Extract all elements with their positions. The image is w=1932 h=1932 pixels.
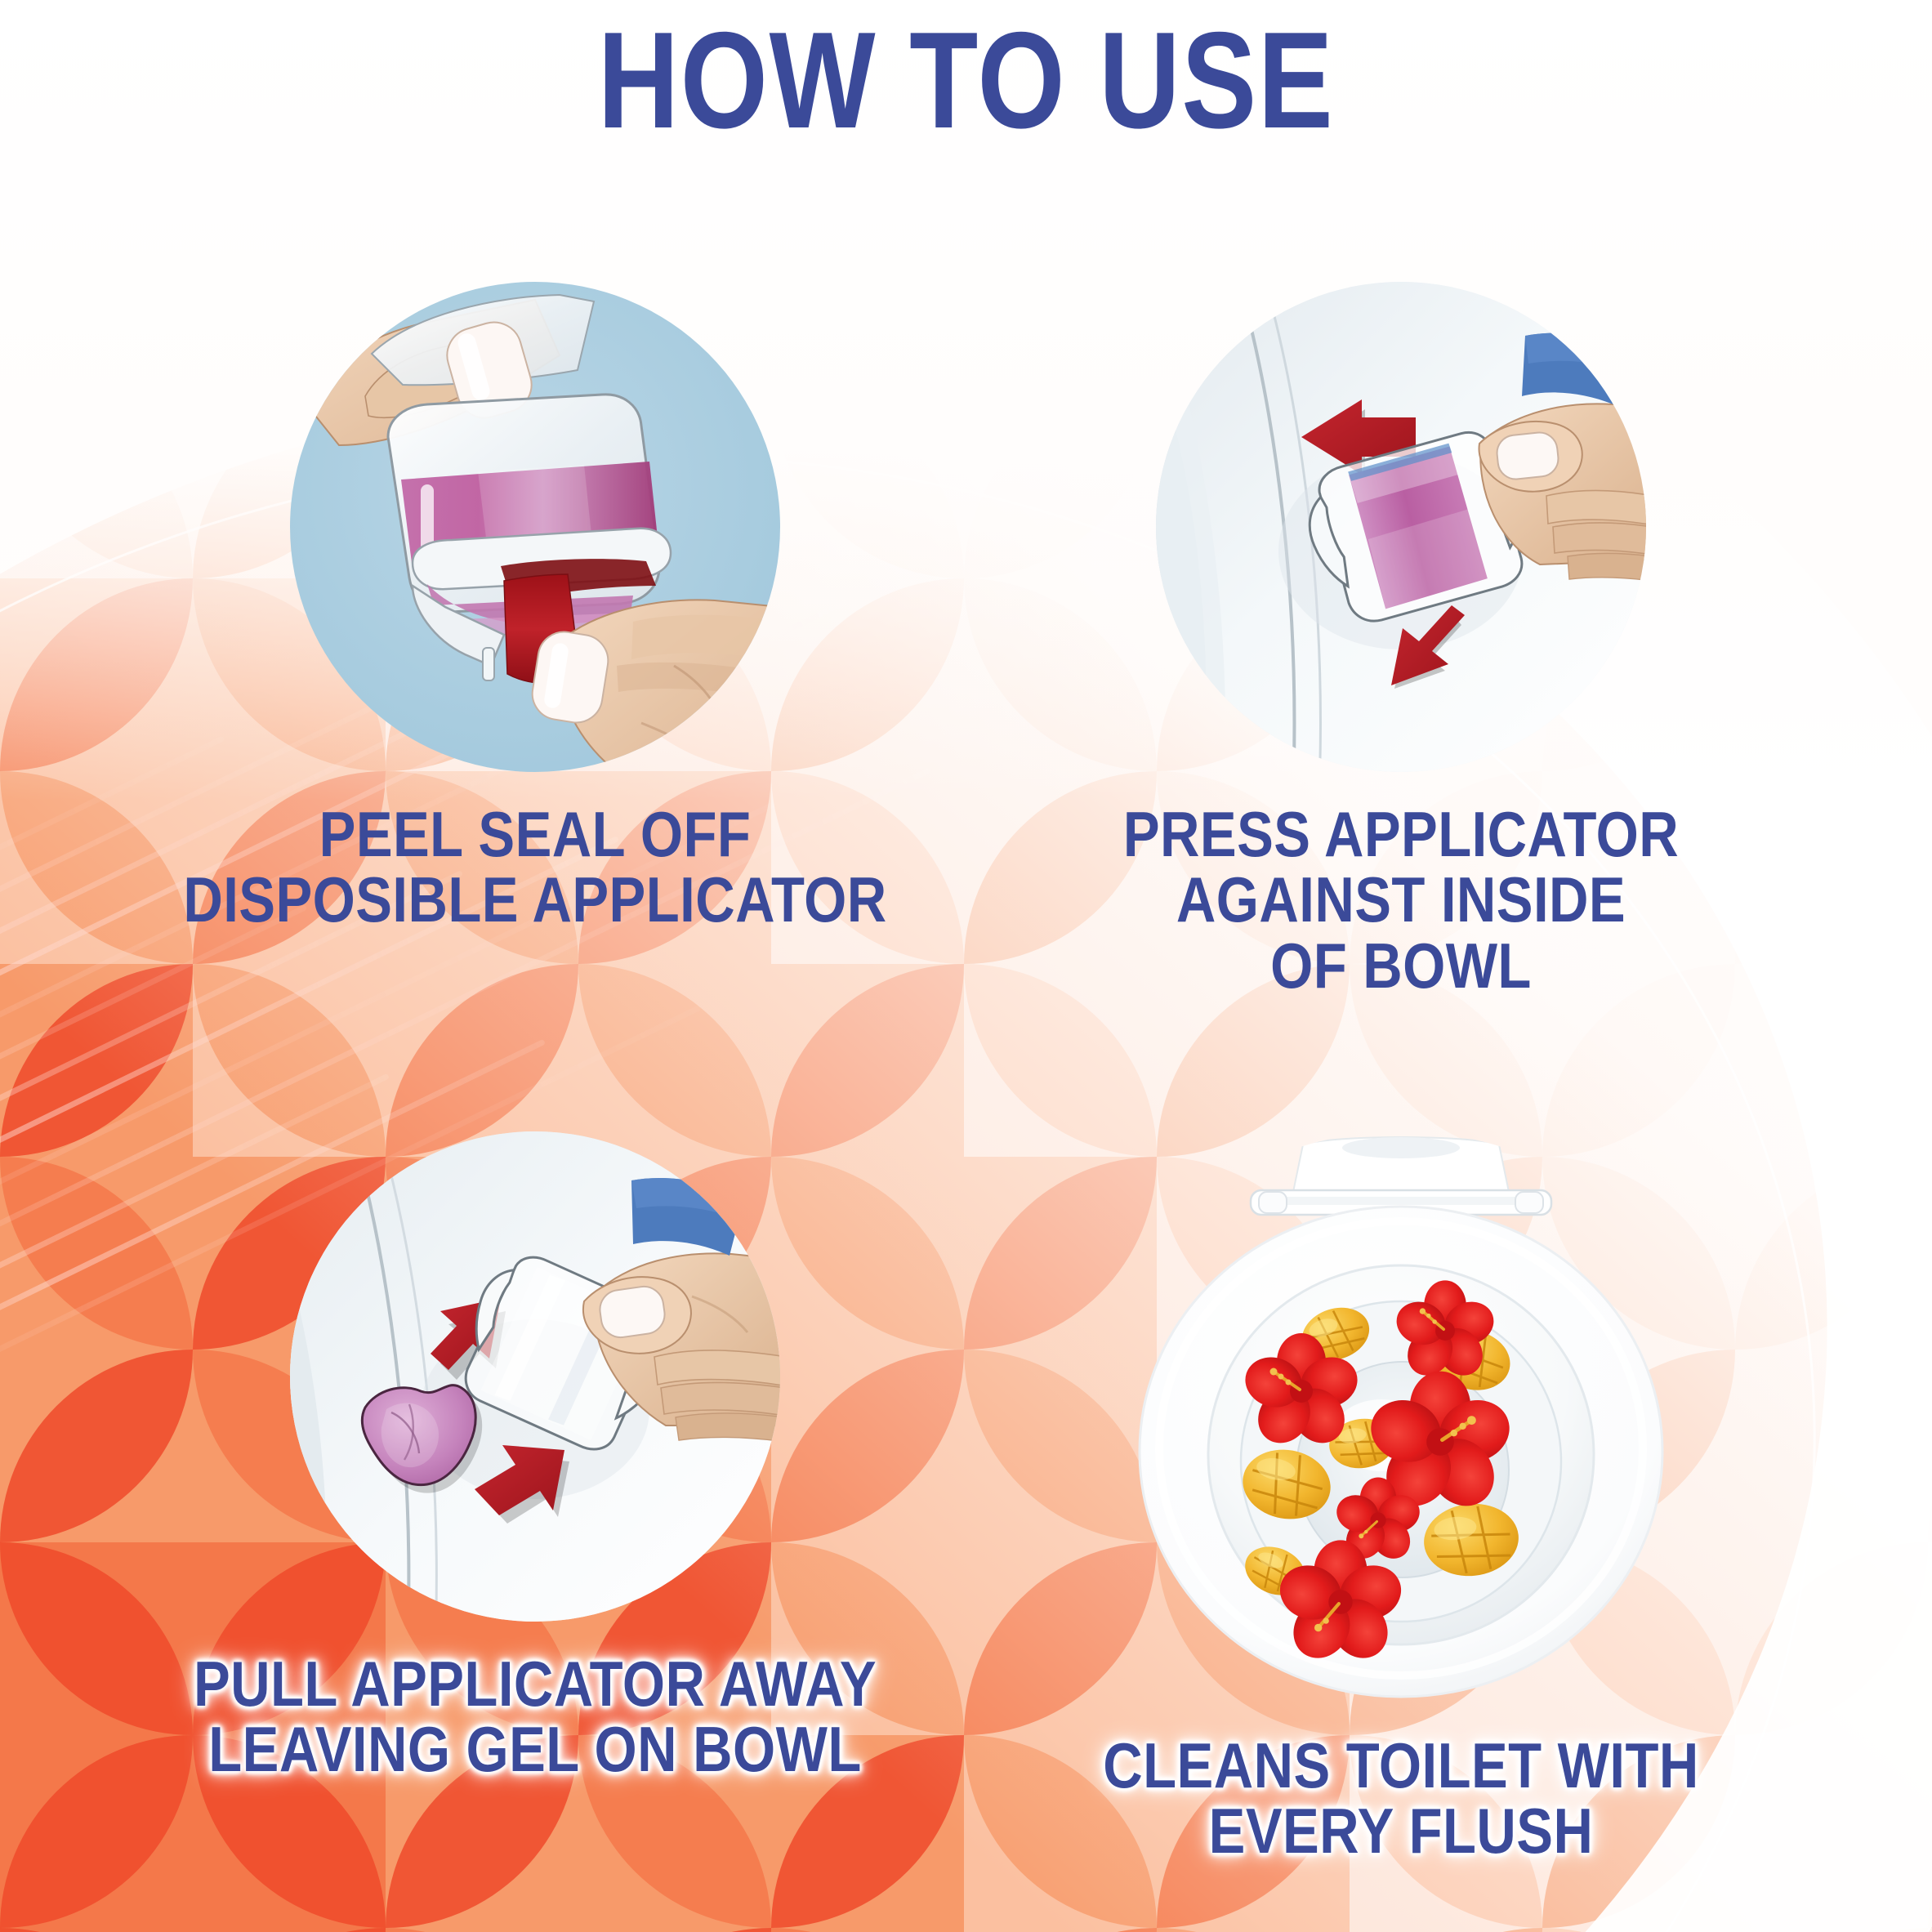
press-applicator-illustration (1156, 282, 1646, 772)
peel-seal-illustration (290, 282, 780, 772)
step-4: CLEANS TOILET WITH EVERY FLUSH (960, 1131, 1842, 1864)
toilet-bowl-illustration (1091, 1131, 1711, 1703)
step-1-caption-line-2: DISPOSIBLE APPLICATOR (156, 867, 915, 932)
step-2-illustration (1156, 282, 1646, 772)
step-4-caption: CLEANS TOILET WITH EVERY FLUSH (1022, 1733, 1781, 1864)
step-1-circle (290, 282, 780, 772)
step-3: PULL APPLICATOR AWAY LEAVING GEL ON BOWL (94, 1131, 976, 1783)
step-4-circle (1091, 1131, 1711, 1703)
step-4-caption-line-1: CLEANS TOILET WITH (1022, 1733, 1781, 1798)
step-1-illustration (290, 282, 780, 772)
step-3-caption-line-1: PULL APPLICATOR AWAY (156, 1651, 915, 1716)
step-4-illustration (1091, 1131, 1711, 1703)
step-2-caption-line-3: OF BOWL (1022, 933, 1781, 998)
step-2-caption-line-2: AGAINST INSIDE (1022, 867, 1781, 932)
step-2: PRESS APPLICATOR AGAINST INSIDE OF BOWL (960, 282, 1842, 998)
step-3-caption-line-2: LEAVING GEL ON BOWL (156, 1716, 915, 1782)
step-1: PEEL SEAL OFF DISPOSIBLE APPLICATOR (94, 282, 976, 933)
step-3-illustration (290, 1131, 780, 1622)
step-1-caption: PEEL SEAL OFF DISPOSIBLE APPLICATOR (156, 801, 915, 933)
step-1-caption-line-1: PEEL SEAL OFF (156, 801, 915, 867)
step-4-caption-line-2: EVERY FLUSH (1022, 1798, 1781, 1863)
step-3-circle (290, 1131, 780, 1622)
step-2-caption-line-1: PRESS APPLICATOR (1022, 801, 1781, 867)
step-2-caption: PRESS APPLICATOR AGAINST INSIDE OF BOWL (1022, 801, 1781, 998)
steps-grid: PEEL SEAL OFF DISPOSIBLE APPLICATOR (0, 0, 1932, 1932)
step-2-circle (1156, 282, 1646, 772)
step-3-caption: PULL APPLICATOR AWAY LEAVING GEL ON BOWL (156, 1651, 915, 1783)
pull-applicator-illustration (290, 1131, 780, 1622)
